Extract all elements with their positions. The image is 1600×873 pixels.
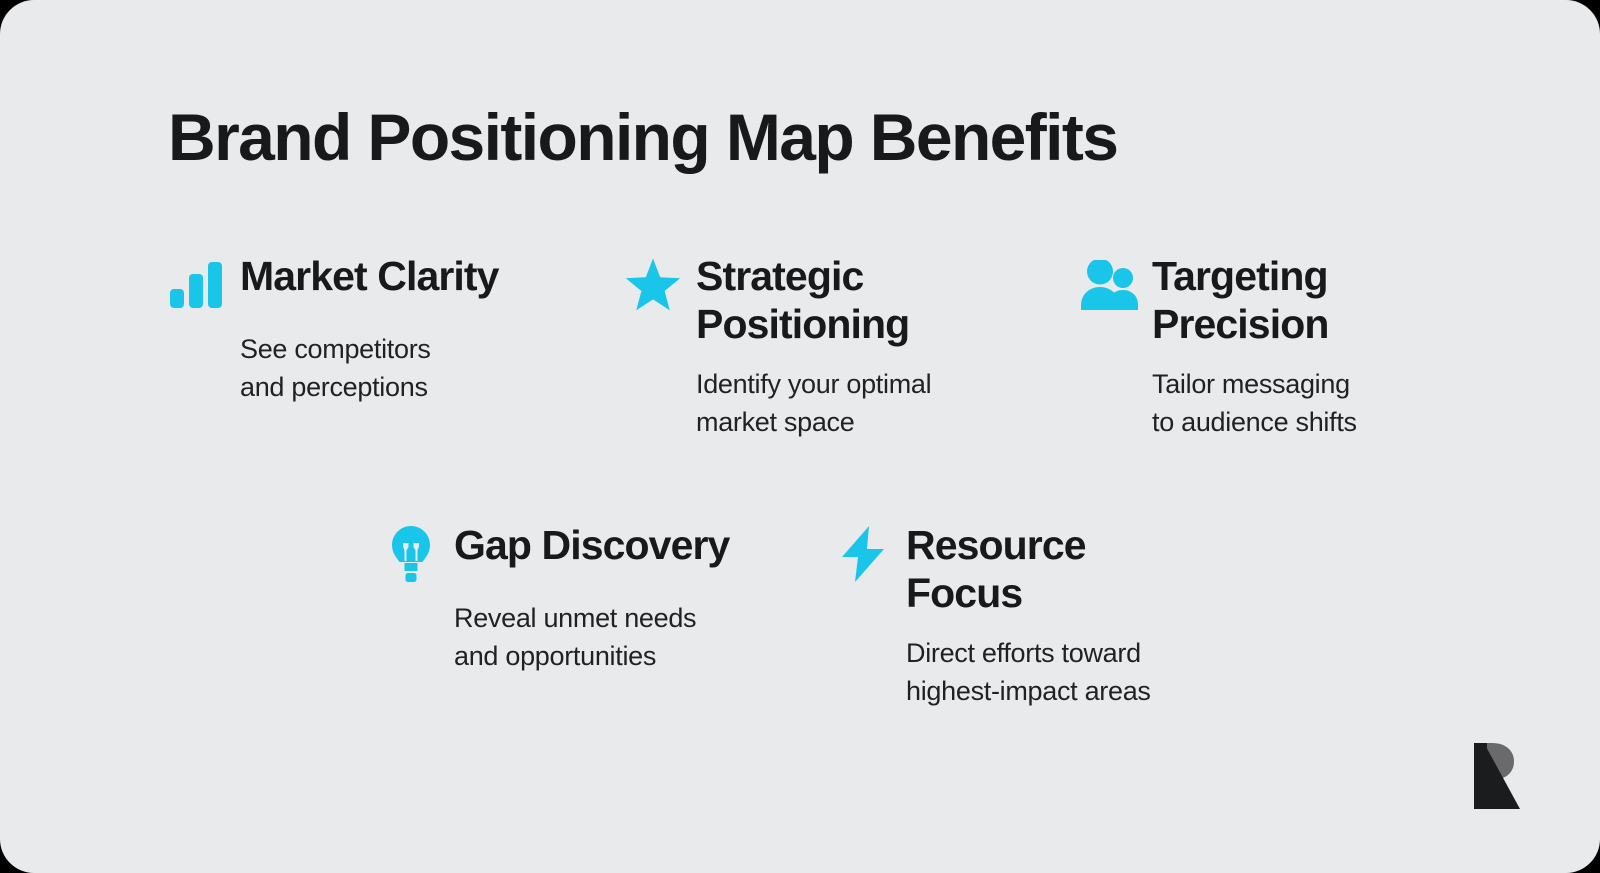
benefit-title: Gap Discovery <box>454 521 729 569</box>
benefit-description: Direct efforts toward highest-impact are… <box>906 634 1236 711</box>
benefit-description-line-2: market space <box>696 403 1026 441</box>
benefit-description: Reveal unmet needs and opportunities <box>454 599 784 676</box>
r-monogram-logo <box>1470 743 1522 809</box>
benefits-row-bottom: Gap Discovery Reveal unmet needs and opp… <box>382 521 1442 710</box>
benefit-description-line-1: Identify your optimal <box>696 365 1026 403</box>
benefit-description-line-2: and opportunities <box>454 637 784 675</box>
benefit-description: Identify your optimal market space <box>696 365 1026 442</box>
infographic-card: Brand Positioning Map Benefits Market Cl… <box>0 0 1600 873</box>
benefit-description-line-2: highest-impact areas <box>906 672 1236 710</box>
star-icon <box>624 256 682 314</box>
benefit-header: Targeting Precision <box>1080 252 1536 349</box>
lightning-bolt-icon <box>834 525 892 583</box>
benefit-title: Resource Focus <box>906 521 1206 618</box>
benefit-description: Tailor messaging to audience shifts <box>1152 365 1482 442</box>
benefit-gap-discovery: Gap Discovery Reveal unmet needs and opp… <box>382 521 834 710</box>
benefit-header: Market Clarity <box>168 252 624 314</box>
bar-chart-icon <box>168 256 226 314</box>
benefit-description-line-2: to audience shifts <box>1152 403 1482 441</box>
page-title: Brand Positioning Map Benefits <box>168 104 1438 170</box>
people-icon <box>1080 256 1138 314</box>
benefits-row-top: Market Clarity See competitors and perce… <box>168 252 1440 441</box>
benefit-description-line-2: and perceptions <box>240 368 570 406</box>
benefit-description-line-1: Tailor messaging <box>1152 365 1482 403</box>
benefit-header: Resource Focus <box>834 521 1286 618</box>
benefit-targeting-precision: Targeting Precision Tailor messaging to … <box>1080 252 1536 441</box>
benefit-header: Strategic Positioning <box>624 252 1080 349</box>
benefit-description: See competitors and perceptions <box>240 330 570 407</box>
benefit-header: Gap Discovery <box>382 521 834 583</box>
lightbulb-icon <box>382 525 440 583</box>
benefit-description-line-1: See competitors <box>240 330 570 368</box>
benefit-title: Targeting Precision <box>1152 252 1452 349</box>
benefit-title: Market Clarity <box>240 252 499 300</box>
benefit-resource-focus: Resource Focus Direct efforts toward hig… <box>834 521 1286 710</box>
benefit-market-clarity: Market Clarity See competitors and perce… <box>168 252 624 441</box>
benefit-strategic-positioning: Strategic Positioning Identify your opti… <box>624 252 1080 441</box>
benefit-description-line-1: Direct efforts toward <box>906 634 1236 672</box>
benefit-title: Strategic Positioning <box>696 252 996 349</box>
benefit-description-line-1: Reveal unmet needs <box>454 599 784 637</box>
